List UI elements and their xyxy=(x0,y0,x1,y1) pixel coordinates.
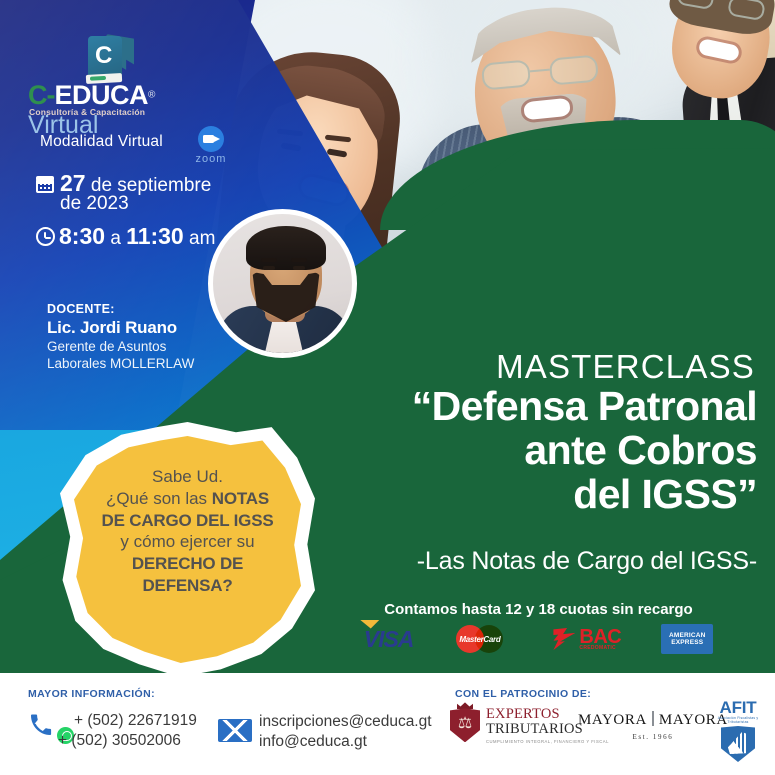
avatar-brow xyxy=(261,258,277,262)
speaker-avatar xyxy=(208,209,357,358)
installments-note: Contamos hasta 12 y 18 cuotas sin recarg… xyxy=(320,601,757,618)
logo-registered-mark: ® xyxy=(148,90,155,101)
shield-scales-icon xyxy=(450,708,480,742)
american-express-logo: AMERICAN EXPRESS xyxy=(661,624,713,654)
mastercard-logo: MasterCard xyxy=(453,624,513,654)
mayora-left: MAYORA xyxy=(578,712,647,728)
time-joiner: a xyxy=(105,228,126,249)
avatar-brow xyxy=(291,258,307,262)
bac-subtext: CREDOMATIC xyxy=(579,646,621,651)
zoom-platform-badge: zoom xyxy=(190,126,232,166)
mayora-mayora-logo: MAYORAMAYORA Est. 1966 xyxy=(578,711,728,741)
time-start: 8:30 xyxy=(59,223,105,249)
course-title-line-2: ante Cobros xyxy=(230,429,757,473)
bac-mark-icon xyxy=(553,628,575,650)
mastercard-label: MasterCard xyxy=(459,635,500,644)
bac-wordmark: BACCREDOMATIC xyxy=(579,628,621,651)
video-camera-icon xyxy=(198,126,224,152)
course-title-line-3: del IGSS” xyxy=(230,473,757,517)
ceduca-logo[interactable]: C C-EDUCA® Virtual Consultoría & Capacit… xyxy=(28,30,218,112)
masterclass-kicker: MASTERCLASS xyxy=(300,348,755,386)
modality-label: Modalidad Virtual xyxy=(40,133,163,151)
amex-line-2: EXPRESS xyxy=(671,639,703,646)
badge-line-6: DEFENSA? xyxy=(78,575,297,597)
contact-label: MAYOR INFORMACIÓN: xyxy=(28,688,155,700)
poster-canvas: C C-EDUCA® Virtual Consultoría & Capacit… xyxy=(0,0,775,775)
time-end: 11:30 xyxy=(126,223,184,249)
badge-line-5-bold: DERECHO DE xyxy=(132,554,243,573)
calendar-icon xyxy=(36,176,54,193)
afit-subtext: Asociación Fiscalistas y Tributaristas xyxy=(712,716,764,724)
email-2[interactable]: info@ceduca.gt xyxy=(259,732,432,752)
logo-c: C- xyxy=(28,80,55,110)
shield-quill-icon xyxy=(721,726,755,762)
course-title: “Defensa Patronal ante Cobros del IGSS” xyxy=(230,385,757,517)
afit-logo: AFIT Asociación Fiscalistas y Tributaris… xyxy=(712,699,764,762)
logo-educa: EDUCA xyxy=(55,80,149,110)
avatar-eye xyxy=(263,266,275,270)
sponsor-label: CON EL PATROCINIO DE: xyxy=(455,688,591,700)
avatar-eye xyxy=(293,266,305,270)
mayora-divider xyxy=(652,711,654,726)
camera-glyph xyxy=(203,135,214,143)
afit-wordmark: AFIT xyxy=(712,699,764,716)
payment-logos: VISA MasterCard BACCREDOMATIC AMERICAN E… xyxy=(320,624,757,654)
mayora-established: Est. 1966 xyxy=(578,733,728,741)
email-addresses: inscripciones@ceduca.gt info@ceduca.gt xyxy=(259,712,432,753)
mayora-wordmark: MAYORAMAYORA xyxy=(578,711,728,729)
badge-line-2-plain: ¿Qué son las xyxy=(106,489,212,508)
course-subtitle: -Las Notas de Cargo del IGSS- xyxy=(250,547,757,576)
logo-wordmark: C-EDUCA® Virtual Consultoría & Capacitac… xyxy=(28,80,228,114)
time-text: 8:30 a 11:30 am xyxy=(59,223,215,250)
book-letter: C xyxy=(95,42,112,70)
speaker-role-line2: Laborales MOLLERLAW xyxy=(47,356,257,372)
email-1[interactable]: inscripciones@ceduca.gt xyxy=(259,712,432,732)
phone-icon xyxy=(29,713,53,737)
clock-icon xyxy=(36,227,55,246)
logo-tagline: Consultoría & Capacitación xyxy=(29,107,145,117)
course-title-line-1: “Defensa Patronal xyxy=(230,385,757,429)
visa-logo: VISA xyxy=(364,626,414,653)
badge-line-6-bold: DEFENSA? xyxy=(142,576,232,595)
crown-icon xyxy=(457,702,473,709)
avatar-hair xyxy=(246,226,326,270)
book-icon: C xyxy=(84,30,140,86)
envelope-icon xyxy=(218,719,252,742)
footer: MAYOR INFORMACIÓN: CON EL PATROCINIO DE:… xyxy=(0,673,775,775)
date-year: de 2023 xyxy=(60,193,129,215)
bac-credomatic-logo: BACCREDOMATIC xyxy=(553,624,621,654)
zoom-label: zoom xyxy=(190,153,232,165)
amex-line-1: AMERICAN xyxy=(669,632,706,639)
time-suffix: am xyxy=(184,228,216,249)
